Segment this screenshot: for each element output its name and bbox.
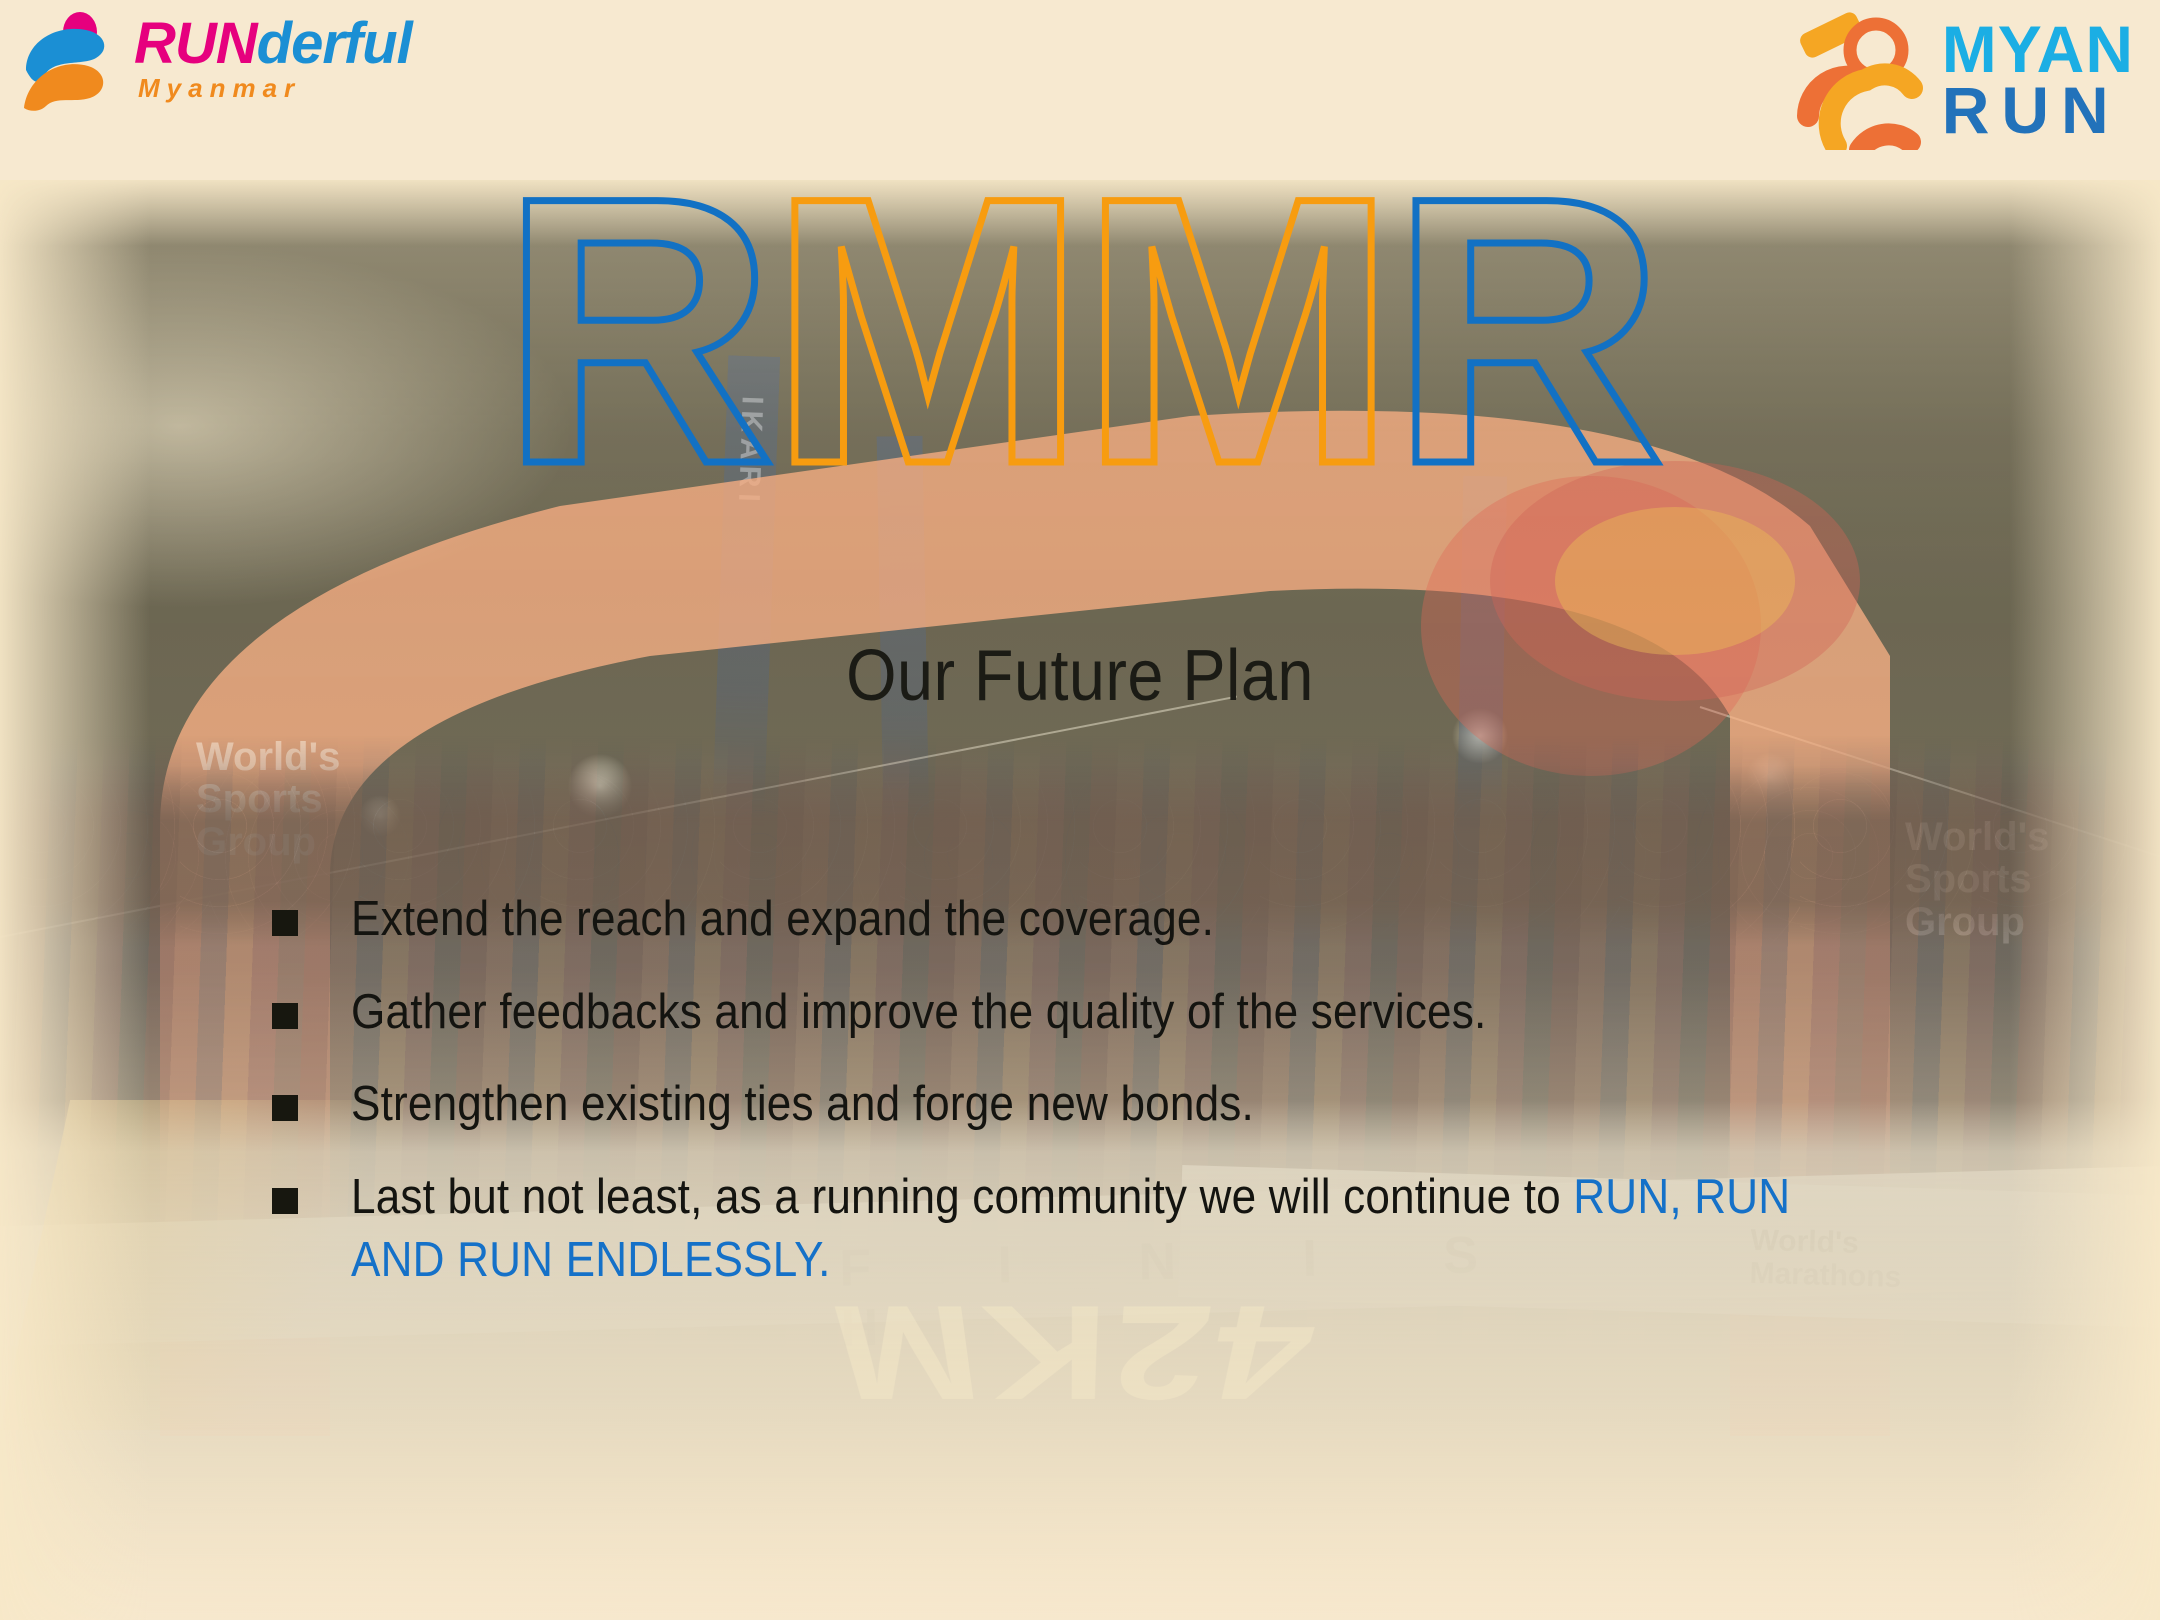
rmmr-letter-m1: M: [769, 118, 1080, 543]
runderful-myanmar-logo: RUNderful Myanmar: [18, 8, 412, 112]
myan-word: MYAN: [1942, 19, 2134, 80]
runner-figure-icon: [18, 8, 130, 112]
myanmar-word: Myanmar: [134, 73, 412, 104]
runderful-wordmark: RUNderful Myanmar: [134, 16, 412, 104]
list-item: Extend the reach and expand the coverage…: [272, 888, 1972, 951]
list-item: Gather feedbacks and improve the quality…: [272, 981, 1972, 1044]
bullet-text-1: Extend the reach and expand the coverage…: [351, 888, 1214, 951]
derful-word: derful: [257, 11, 412, 76]
square-bullet-icon: [272, 910, 298, 936]
square-bullet-icon: [272, 1095, 298, 1121]
run-word-logo: RUN: [1942, 80, 2134, 141]
rmmr-letter-r1: R: [501, 118, 769, 543]
list-item: Last but not least, as a running communi…: [272, 1166, 1972, 1291]
rmmr-letter-r2: R: [1391, 118, 1659, 543]
running-man-icon: [1794, 10, 1932, 150]
runderful-line1: RUNderful: [134, 16, 412, 71]
run-word: RUN: [134, 11, 257, 76]
list-item: Strengthen existing ties and forge new b…: [272, 1073, 1972, 1136]
bullet-4-lead: Last but not least, as a running communi…: [351, 1170, 1573, 1224]
square-bullet-icon: [272, 1003, 298, 1029]
square-bullet-icon: [272, 1188, 298, 1214]
myanrun-wordmark: MYAN RUN: [1942, 19, 2134, 140]
myanrun-logo: MYAN RUN: [1794, 10, 2134, 150]
bullet-list: Extend the reach and expand the coverage…: [272, 888, 1972, 1322]
bullet-text-3: Strengthen existing ties and forge new b…: [351, 1073, 1254, 1136]
rmmr-title: RMMR: [0, 150, 2160, 511]
presentation-slide: IKARI World'sSportsGroup World'sSportsGr…: [0, 0, 2160, 1620]
rmmr-letter-m2: M: [1080, 118, 1391, 543]
page-title: Our Future Plan: [108, 635, 2052, 717]
bullet-text-4: Last but not least, as a running communi…: [351, 1166, 1810, 1291]
bullet-text-2: Gather feedbacks and improve the quality…: [351, 981, 1486, 1044]
